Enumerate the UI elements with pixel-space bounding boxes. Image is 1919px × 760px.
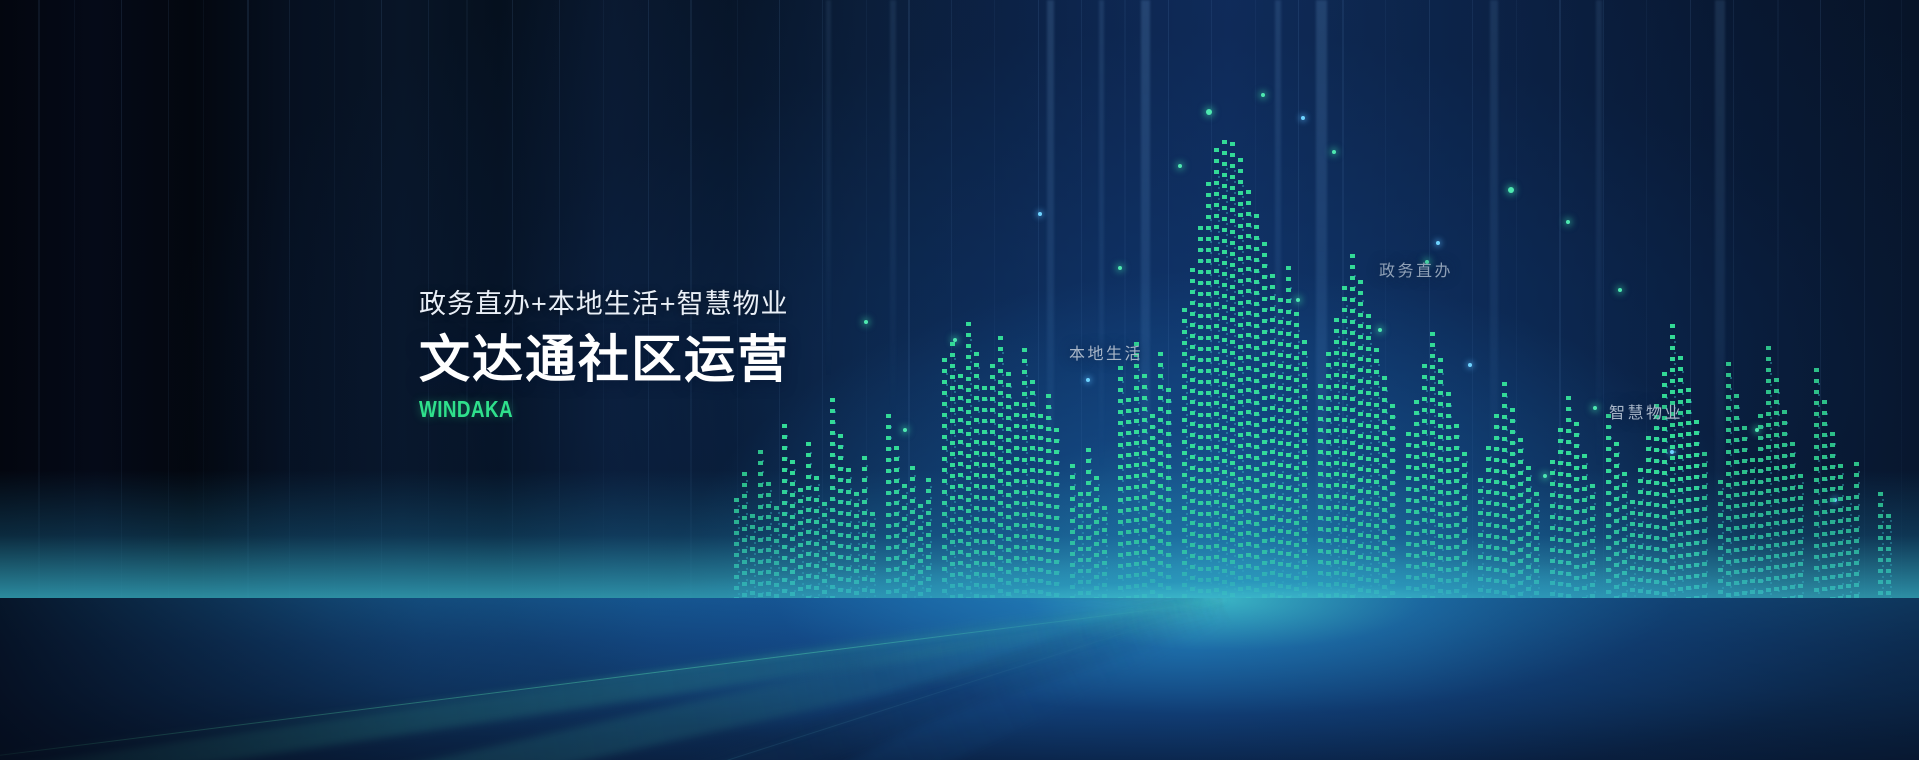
skyline-column-echo (786, 435, 788, 610)
skyline-column-echo (738, 505, 740, 610)
skyline-column-echo (1010, 386, 1012, 610)
skyline-column-echo (1506, 396, 1508, 610)
skyline-column-echo (1258, 238, 1260, 610)
skyline-column-echo (1690, 401, 1692, 610)
skyline-column-echo (1530, 475, 1532, 610)
perspective-ground (0, 598, 1919, 760)
skyline-column-echo (810, 452, 812, 610)
skyline-column-echo (858, 499, 860, 610)
skyline-column-echo (1554, 469, 1556, 610)
skyline-column-echo (746, 480, 748, 610)
floating-label-3: 智慧物业 (1609, 399, 1683, 423)
skyline-column-echo (1106, 512, 1108, 610)
skyline-column-echo (1658, 416, 1660, 610)
skyline-column-echo (1050, 407, 1052, 610)
skyline-column-echo (1034, 394, 1036, 610)
skyline-column-echo (1674, 341, 1676, 610)
skyline-column-echo (1146, 388, 1148, 610)
floating-label-1: 本地生活 (1069, 340, 1143, 364)
skyline-column-echo (1594, 492, 1596, 610)
skyline-column-echo (978, 367, 980, 610)
skyline-column-echo (962, 388, 964, 610)
skyline-column-echo (1698, 431, 1700, 610)
skyline-column-echo (770, 490, 772, 610)
skyline-column-echo (1242, 185, 1244, 610)
skyline-column-echo (1370, 332, 1372, 610)
skyline-column-echo (1746, 437, 1748, 610)
hero-headline: 文达通社区运营 (419, 331, 790, 388)
skyline-column-echo (1794, 452, 1796, 610)
skyline-column-echo (754, 520, 756, 610)
skyline-column-echo (1266, 264, 1268, 610)
skyline-column-echo (1562, 439, 1564, 610)
skyline-column-echo (1466, 461, 1468, 610)
skyline-column-echo (1650, 446, 1652, 610)
skyline-column-echo (1162, 367, 1164, 610)
skyline-column-echo (1786, 422, 1788, 610)
skyline-column-echo (834, 411, 836, 610)
skyline-column-echo (1514, 420, 1516, 610)
skyline-column-echo (1434, 349, 1436, 610)
skyline-column-echo (1082, 499, 1084, 610)
skyline-column-echo (1570, 409, 1572, 610)
skyline-column-echo (890, 426, 892, 610)
skyline-column-echo (818, 484, 820, 610)
skyline-column-echo (1250, 215, 1252, 610)
skyline-column-echo (1850, 503, 1852, 610)
skyline-column-echo (1282, 317, 1284, 610)
skyline-column-echo (1138, 358, 1140, 610)
skyline-column-echo (1634, 507, 1636, 610)
skyline-column-echo (1074, 473, 1076, 610)
skyline-column-echo (1130, 411, 1132, 610)
skyline-column-echo (1098, 484, 1100, 610)
skyline-column-echo (1610, 426, 1612, 610)
skyline-column-echo (1642, 477, 1644, 610)
skyline-column-echo (1626, 480, 1628, 610)
hero-copy-block: 政务直办+本地生活+智慧物业 文达通社区运营 WINDAKA (419, 288, 790, 421)
skyline-column-echo (1586, 463, 1588, 610)
skyline-column-echo (1842, 473, 1844, 610)
skyline-column-echo (1730, 377, 1732, 610)
skyline-column-echo (826, 508, 828, 610)
skyline-column-echo (1522, 448, 1524, 610)
skyline-column-echo (1410, 443, 1412, 610)
skyline-column-echo (1754, 467, 1756, 610)
skyline-column-echo (1890, 520, 1892, 610)
skyline-column-echo (954, 358, 956, 610)
skyline-column-echo (1578, 433, 1580, 610)
skyline-column-echo (1442, 373, 1444, 610)
skyline-column-echo (1346, 305, 1348, 610)
skyline-column-echo (1234, 170, 1236, 610)
skyline-column-echo (1538, 499, 1540, 610)
skyline-column-echo (1618, 452, 1620, 610)
skyline-column-echo (1210, 208, 1212, 610)
skyline-column-echo (1706, 461, 1708, 610)
skyline-column-echo (1338, 336, 1340, 610)
skyline-column-echo (1450, 405, 1452, 610)
skyline-column-echo (1330, 367, 1332, 610)
skyline-column-echo (1154, 426, 1156, 610)
skyline-column-echo (1482, 486, 1484, 610)
skyline-column-echo (762, 460, 764, 610)
skyline-column-echo (1858, 471, 1860, 610)
skyline-column-echo (1194, 289, 1196, 610)
skyline-column-echo (914, 475, 916, 610)
skyline-column-echo (1826, 413, 1828, 610)
skyline-column-echo (1426, 379, 1428, 610)
skyline-column-echo (850, 477, 852, 610)
skyline-column-echo (946, 373, 948, 610)
skyline-column-echo (1042, 426, 1044, 610)
skyline-column-echo (930, 486, 932, 610)
skyline-column-echo (1802, 482, 1804, 610)
hero-banner: 本地生活政务直办智慧物业 政务直办+本地生活+智慧物业 文达通社区运营 WIND… (0, 0, 1919, 760)
skyline-column-echo (1498, 426, 1500, 610)
skyline-column-echo (1882, 499, 1884, 610)
skyline-column-echo (1386, 390, 1388, 610)
skyline-column-echo (1778, 392, 1780, 610)
skyline-column-echo (1818, 383, 1820, 610)
skyline-column-echo (1418, 413, 1420, 610)
skyline-column-echo (1394, 416, 1396, 610)
skyline-column-echo (794, 469, 796, 610)
skyline-column-echo (874, 518, 876, 610)
skyline-column-echo (1058, 439, 1060, 610)
skyline-column-echo (1122, 381, 1124, 610)
skyline-column-echo (1354, 275, 1356, 610)
skyline-column-echo (866, 465, 868, 610)
skyline-column-echo (1298, 330, 1300, 610)
hero-subtitle: 政务直办+本地生活+智慧物业 (419, 288, 790, 322)
skyline-column-echo (1834, 443, 1836, 610)
skyline-column-echo (994, 379, 996, 610)
skyline-column-echo (1026, 364, 1028, 610)
floating-label-2: 政务直办 (1379, 257, 1453, 281)
skyline-column-echo (1226, 168, 1228, 610)
skyline-column-echo (1722, 488, 1724, 610)
skyline-column-echo (778, 512, 780, 610)
skyline-column-echo (802, 495, 804, 610)
skyline-column-echo (1306, 356, 1308, 610)
skyline-column-echo (1770, 362, 1772, 610)
skyline-column-echo (1378, 364, 1380, 610)
skyline-column-echo (1186, 326, 1188, 610)
skyline-column-echo (842, 445, 844, 610)
skyline-column-echo (898, 456, 900, 610)
skyline-column-echo (1738, 407, 1740, 610)
skyline-column-echo (1322, 398, 1324, 610)
skyline-column-echo (922, 510, 924, 610)
skyline-column-echo (986, 399, 988, 610)
skyline-column-echo (1018, 414, 1020, 610)
skyline-column-echo (1274, 294, 1276, 610)
dot-matrix-skyline-chart (0, 0, 1919, 610)
skyline-column-echo (1090, 458, 1092, 610)
skyline-column-echo (1290, 287, 1292, 610)
skyline-column-echo (1762, 426, 1764, 610)
skyline-column-echo (1218, 176, 1220, 610)
skyline-column-echo (906, 492, 908, 610)
skyline-column-echo (1002, 352, 1004, 610)
brand-wordmark: WINDAKA (419, 398, 723, 421)
skyline-column-echo (1490, 456, 1492, 610)
skyline-column-echo (1458, 435, 1460, 610)
skyline-column-echo (1202, 249, 1204, 610)
skyline-column-echo (1170, 401, 1172, 610)
skyline-column-echo (970, 339, 972, 610)
skyline-column-echo (1362, 300, 1364, 610)
